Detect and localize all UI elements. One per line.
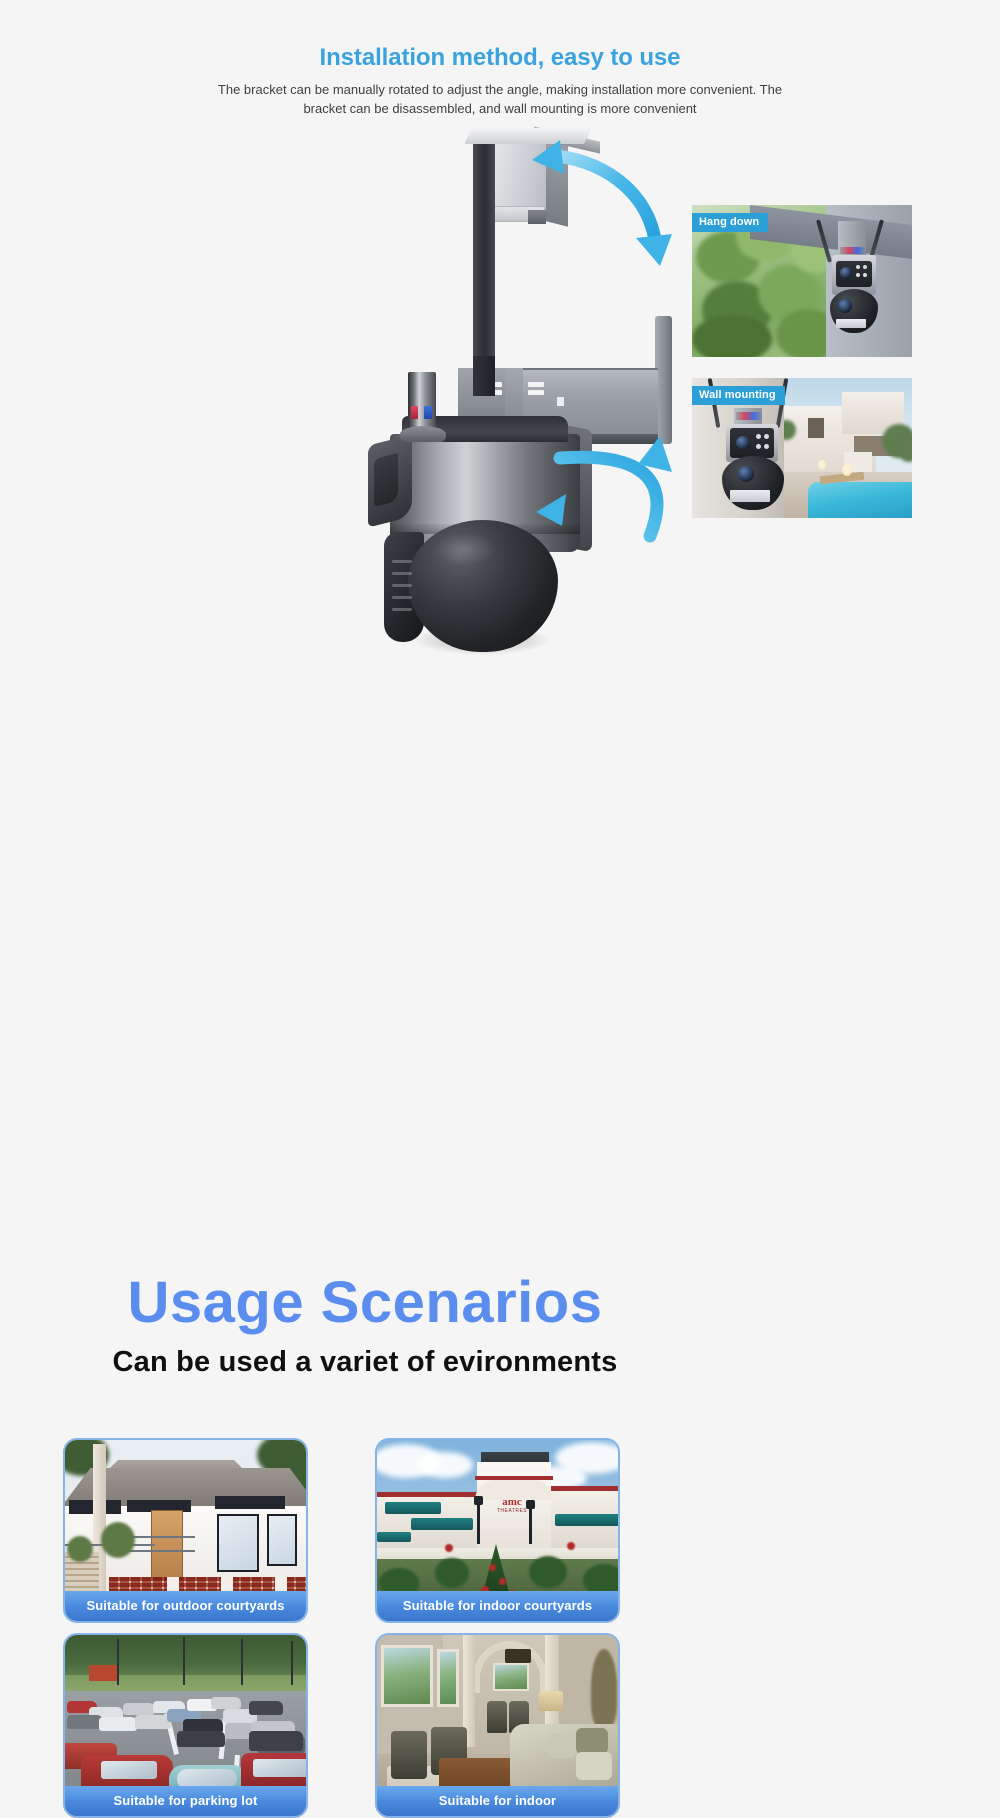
shrub <box>67 1536 93 1562</box>
scenario-card-indoor[interactable]: Suitable for indoor <box>375 1633 620 1818</box>
red-trim <box>377 1492 483 1497</box>
scenario-caption: Suitable for parking lot <box>65 1786 306 1816</box>
ir-led <box>764 434 769 439</box>
window <box>217 1514 259 1572</box>
scenario-caption: Suitable for indoor courtyards <box>377 1591 618 1621</box>
car <box>67 1715 103 1729</box>
lamp-head <box>474 1496 483 1505</box>
foliage-blob <box>692 315 772 357</box>
car <box>123 1703 155 1715</box>
potted-plant <box>591 1649 617 1727</box>
villa-window <box>808 418 824 438</box>
ir-led <box>863 265 867 269</box>
ir-led <box>756 434 761 439</box>
camera-lens <box>840 267 852 279</box>
scenario-card-outdoor-courtyards[interactable]: Suitable for outdoor courtyards <box>63 1438 308 1623</box>
inset-label-hang-down: Hang down <box>692 213 768 232</box>
ceiling-mount-screw <box>528 210 546 224</box>
awning <box>411 1518 473 1530</box>
cushion <box>548 1734 576 1758</box>
lamp-post <box>529 1504 532 1544</box>
ir-led <box>856 273 860 277</box>
cushion <box>576 1752 612 1780</box>
bracket-notch <box>528 390 544 395</box>
installation-title: Installation method, easy to use <box>0 44 1000 72</box>
brand-badge <box>836 319 866 328</box>
red-decoration <box>445 1544 453 1552</box>
light-pole <box>291 1641 293 1685</box>
grip-line <box>392 584 412 587</box>
chandelier <box>505 1649 531 1663</box>
car <box>249 1731 303 1751</box>
ptz-lens <box>838 299 852 313</box>
red-trim <box>547 1486 618 1491</box>
window <box>267 1514 297 1566</box>
ir-led <box>764 444 769 449</box>
strobe-light <box>736 412 762 420</box>
installation-section: Installation method, easy to use The bra… <box>0 0 1000 620</box>
ptz-dome-highlight <box>434 532 496 566</box>
scenario-caption: Suitable for outdoor courtyards <box>65 1591 306 1621</box>
armchair <box>391 1731 427 1779</box>
installation-description: The bracket can be manually rotated to a… <box>208 80 793 118</box>
mounting-post-lower <box>473 356 495 396</box>
camera-lens <box>736 436 750 450</box>
window <box>381 1645 433 1707</box>
swimming-pool <box>808 482 912 518</box>
eave <box>215 1496 285 1509</box>
bracket-screw <box>556 396 565 407</box>
awning <box>555 1514 618 1526</box>
storage-shed <box>89 1665 117 1681</box>
light-pole <box>183 1637 185 1685</box>
red-decoration <box>499 1578 506 1585</box>
grip-line <box>392 560 412 563</box>
shrub <box>101 1522 135 1558</box>
brand-badge <box>730 490 770 502</box>
dining-chair <box>487 1701 507 1733</box>
camera-lens-housing-inner <box>374 453 398 507</box>
camera-illustration <box>360 120 700 590</box>
car <box>99 1717 137 1731</box>
light-pole <box>117 1639 119 1685</box>
grip-line <box>392 596 412 599</box>
pickup-truck <box>177 1731 225 1747</box>
inset-hang-down: Hang down <box>692 205 912 357</box>
usage-scenarios-title: Usage Scenarios <box>0 1268 730 1338</box>
windshield <box>101 1761 157 1779</box>
red-decoration <box>567 1542 575 1550</box>
ptz-lens <box>738 466 754 482</box>
bush <box>529 1556 567 1588</box>
light-pole <box>241 1639 243 1685</box>
ir-led <box>756 444 761 449</box>
mounting-post <box>473 128 495 390</box>
windshield <box>253 1759 306 1777</box>
grip-line <box>392 608 412 611</box>
red-led <box>411 406 418 419</box>
ceiling-plate <box>464 128 592 144</box>
ceiling-mount-box-side <box>546 139 568 226</box>
bush <box>435 1558 469 1588</box>
interior-window <box>493 1663 529 1691</box>
garden-lamp <box>842 464 852 476</box>
window <box>437 1649 459 1707</box>
usage-scenarios-subtitle: Can be used a variet of evironments <box>0 1346 730 1379</box>
lamp-post <box>477 1500 480 1544</box>
inset-wall-mounting: Wall mounting <box>692 378 912 518</box>
inset-label-wall-mounting: Wall mounting <box>692 386 785 405</box>
strobe-light <box>840 247 866 254</box>
car <box>249 1701 283 1715</box>
scenario-card-parking-lot[interactable]: Suitable for parking lot <box>63 1633 308 1818</box>
car <box>135 1715 171 1729</box>
scenario-card-indoor-courtyards[interactable]: amc THEATRES <box>375 1438 620 1623</box>
car <box>211 1697 241 1709</box>
bracket-notch <box>528 382 544 387</box>
table-lamp <box>539 1691 563 1711</box>
ir-led <box>856 265 860 269</box>
strobe-light-bar <box>408 372 436 432</box>
scenario-card-grid: Suitable for outdoor courtyards amc THEA… <box>63 1438 683 1818</box>
strobe-light-base <box>400 426 446 442</box>
awning <box>385 1502 441 1514</box>
blue-led <box>424 406 432 419</box>
cushion <box>576 1728 608 1754</box>
column <box>545 1635 559 1731</box>
cloud <box>417 1452 473 1478</box>
lamp-head <box>526 1500 535 1509</box>
ir-led <box>863 273 867 277</box>
grip-line <box>392 572 412 575</box>
awning <box>377 1532 411 1542</box>
scenario-caption: Suitable for indoor <box>377 1786 618 1816</box>
garden-lamp <box>818 460 826 470</box>
red-decoration <box>489 1564 496 1571</box>
red-trim <box>475 1476 553 1480</box>
front-door <box>151 1510 183 1580</box>
